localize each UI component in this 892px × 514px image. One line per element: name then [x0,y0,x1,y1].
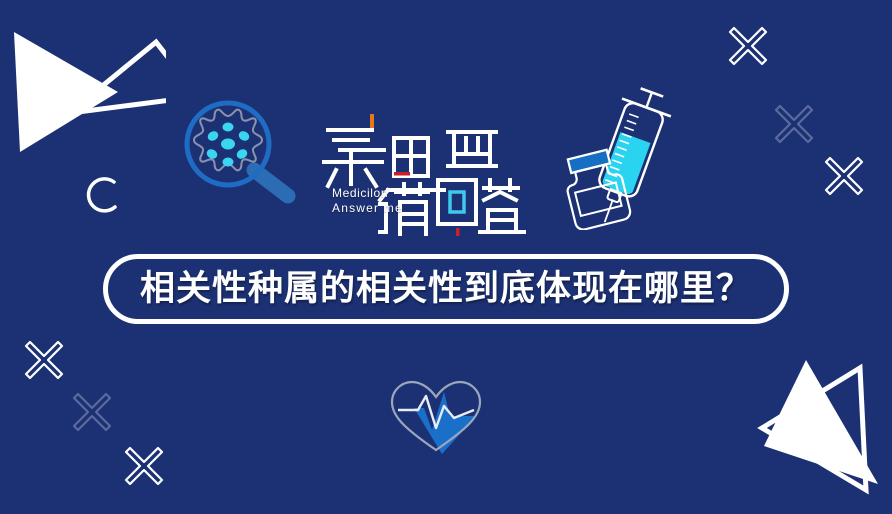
triangle-decoration-bottom-right [728,354,892,504]
cross-icon [122,444,166,493]
triangle-decoration-top-left [0,14,166,159]
heart-pulse-icon [384,372,488,458]
page-title: 相关性种属的相关性到底体现在哪里？ [140,272,752,307]
cross-icon [772,102,816,151]
title-pill: 相关性种属的相关性到底体现在哪里？ [103,254,789,324]
logo-latin-text: Medicilon Answer me [332,186,403,216]
medicilon-logo: Medicilon Answer me [318,108,528,236]
logo-tagline: Answer me [332,201,403,216]
cross-icon [822,154,866,203]
logo-brand-name: Medicilon [332,186,403,201]
cross-icon [726,24,770,73]
arc-decoration-left [78,172,124,218]
promo-banner: Medicilon Answer me 相关性种属的相关性到底体现在哪里？ [0,0,892,514]
magnifier-virus-icon [176,96,304,208]
syringe-vial-icon [556,82,676,230]
cross-icon [70,390,114,439]
cross-icon [22,338,66,387]
